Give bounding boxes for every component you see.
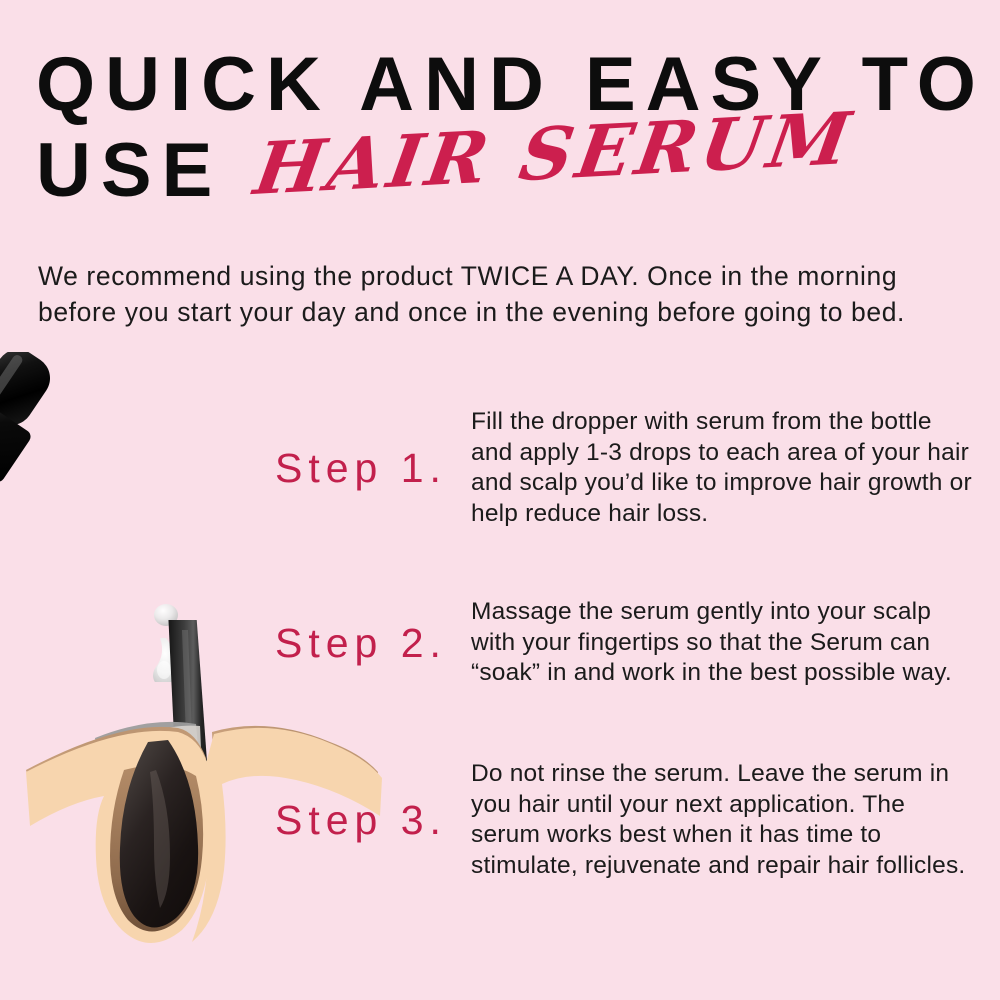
hair-shaft <box>168 620 214 862</box>
step-3-text: Do not rinse the serum. Leave the serum … <box>471 759 975 881</box>
step-item-2: Step 2. Massage the serum gently into yo… <box>275 582 975 704</box>
skin-bottom-layer <box>26 731 212 943</box>
step-item-3: Step 3. Do not rinse the serum. Leave th… <box>275 744 975 896</box>
step-2-label: Step 2. <box>275 620 471 666</box>
page-title: QUICK AND EASY TO USE HAIR SERUM <box>36 46 976 210</box>
title-line-2-plain: USE <box>36 132 222 210</box>
hair-root-bulb <box>120 740 198 928</box>
intro-paragraph: We recommend using the product TWICE A D… <box>38 258 966 330</box>
step-item-1: Step 1. Fill the dropper with serum from… <box>275 394 975 542</box>
steps-list: Step 1. Fill the dropper with serum from… <box>275 394 975 896</box>
step-1-text: Fill the dropper with serum from the bot… <box>471 407 975 529</box>
step-3-label: Step 3. <box>275 797 471 843</box>
step-2-text: Massage the serum gently into your scalp… <box>471 597 975 689</box>
step-1-label: Step 1. <box>275 445 471 491</box>
skin-top-layer <box>26 727 206 798</box>
title-line-2: USE HAIR SERUM <box>36 132 976 210</box>
serum-dropper-icon <box>0 352 244 682</box>
serum-droplet-icon <box>153 638 184 682</box>
hair-serum-instruction-poster: QUICK AND EASY TO USE HAIR SERUM We reco… <box>0 0 1000 1000</box>
follicle-cavity <box>110 765 203 931</box>
